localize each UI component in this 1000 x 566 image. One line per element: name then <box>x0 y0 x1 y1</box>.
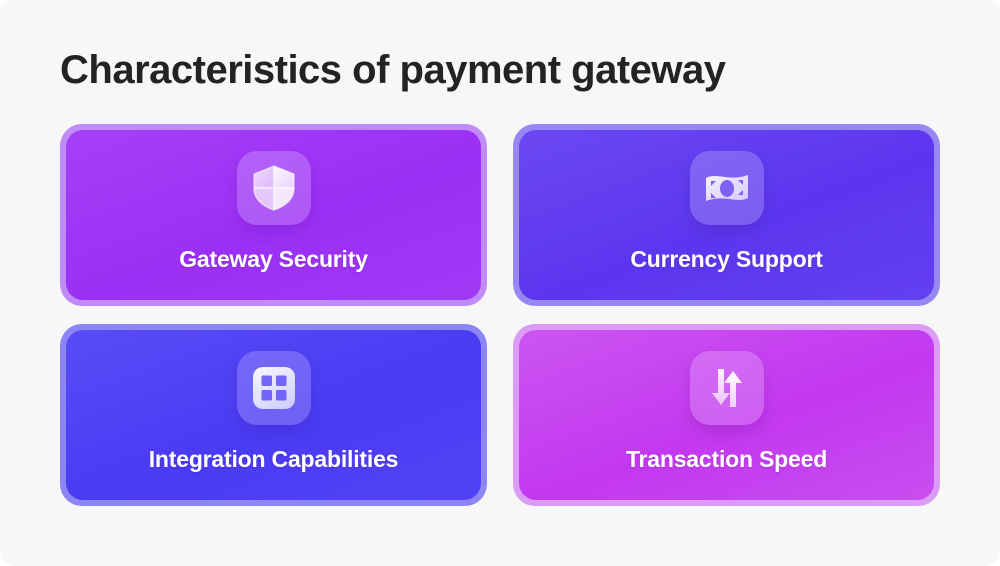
card-label: Transaction Speed <box>626 446 827 473</box>
card-integration-capabilities[interactable]: Integration Capabilities <box>60 324 487 506</box>
card-label: Currency Support <box>630 246 822 273</box>
icon-tile <box>237 151 311 225</box>
transfer-arrows-icon <box>704 366 750 410</box>
card-inner: Integration Capabilities <box>66 330 481 500</box>
banknote-icon <box>703 169 751 207</box>
card-transaction-speed[interactable]: Transaction Speed <box>513 324 940 506</box>
icon-tile <box>237 351 311 425</box>
card-inner: Currency Support <box>519 130 934 300</box>
card-inner: Gateway Security <box>66 130 481 300</box>
page-title: Characteristics of payment gateway <box>60 48 725 93</box>
card-inner: Transaction Speed <box>519 330 934 500</box>
card-label: Integration Capabilities <box>149 446 399 473</box>
icon-tile <box>690 351 764 425</box>
grid-icon <box>252 366 296 410</box>
shield-icon <box>252 165 296 211</box>
card-currency-support[interactable]: Currency Support <box>513 124 940 306</box>
icon-tile <box>690 151 764 225</box>
infographic-page: Characteristics of payment gateway <box>0 0 1000 566</box>
card-grid: Gateway Security <box>60 124 940 506</box>
card-gateway-security[interactable]: Gateway Security <box>60 124 487 306</box>
card-label: Gateway Security <box>179 246 368 273</box>
